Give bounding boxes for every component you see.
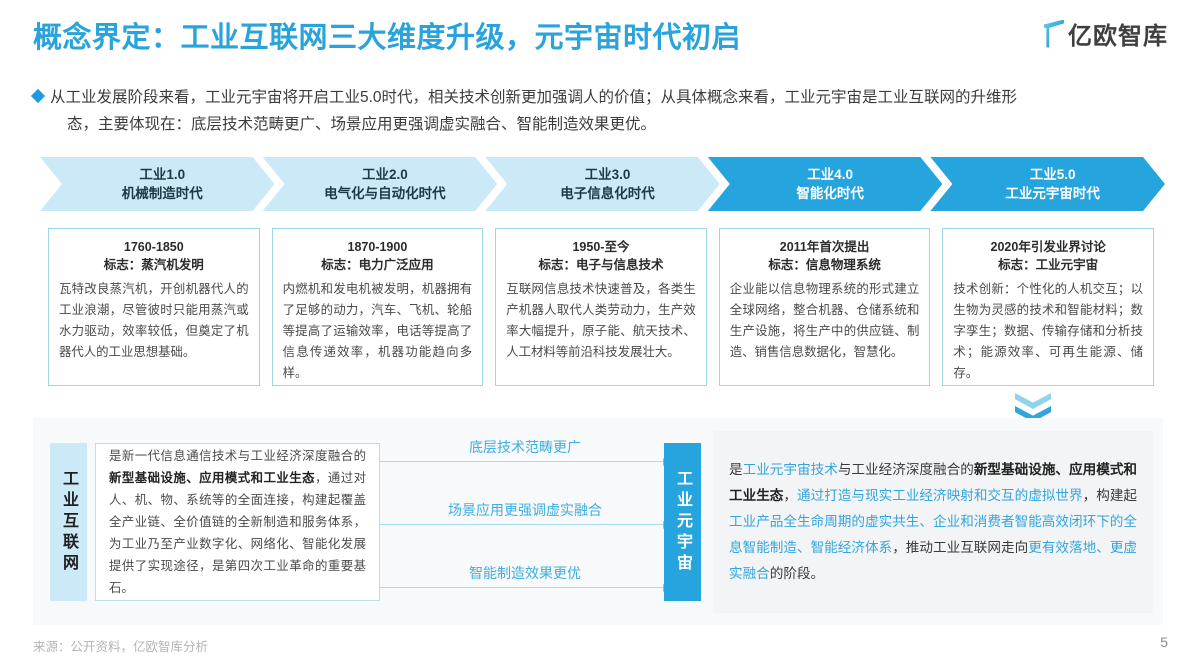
era-card: 1760-1850 标志：蒸汽机发明 瓦特改良蒸汽机，开创机器代人的工业浪潮，尽… [48, 228, 260, 386]
arrow-right-icon [380, 461, 670, 462]
rdef-seg-6-blue: 通过打造与现实工业经济映射和交互的虚拟世界 [797, 488, 1083, 503]
industrial-internet-label-text: 工业互联网 [50, 470, 87, 575]
timeline-step-1[interactable]: 工业1.0 机械制造时代 [40, 157, 275, 211]
industrial-internet-label: 工业互联网 [50, 443, 87, 601]
industrial-metaverse-label-text: 工业元宇宙 [664, 470, 701, 575]
arrow-right-icon [380, 524, 670, 525]
era-card: 1950-至今 标志：电子与信息技术 互联网信息技术快速普及，各类生产机器人取代… [495, 228, 707, 386]
timeline-step-title: 工业4.0 [807, 165, 853, 184]
chevron-down-icon [1015, 393, 1051, 409]
dimension-arrow-3-label: 智能制造效果更优 [380, 563, 670, 583]
era-card-subheading: 标志：蒸汽机发明 [59, 256, 249, 274]
rdef-seg-5: ， [783, 488, 797, 503]
era-card-body: 内燃机和发电机被发明，机器拥有了足够的动力，汽车、飞机、轮船等提高了运输效率，电… [283, 279, 473, 384]
page-number: 5 [1160, 634, 1168, 650]
timeline-step-2[interactable]: 工业2.0 电气化与自动化时代 [263, 157, 498, 211]
rdef-seg-7: ，构建起 [1083, 488, 1137, 503]
brand-wordmark: 亿欧智库 [1068, 16, 1168, 51]
era-card: 1870-1900 标志：电力广泛应用 内燃机和发电机被发明，机器拥有了足够的动… [272, 228, 484, 386]
era-card: 2011年首次提出 标志：信息物理系统 企业能以信息物理系统的形式建立全球网络，… [719, 228, 931, 386]
dimension-arrow-1-label: 底层技术范畴更广 [380, 437, 670, 457]
era-card: 2020年引发业界讨论 标志：工业元宇宙 技术创新：个性化的人机交互；以生物为灵… [942, 228, 1154, 386]
timeline-step-title: 工业3.0 [585, 165, 631, 184]
page-title: 概念界定：工业互联网三大维度升级，元宇宙时代初启 [33, 14, 741, 56]
source-note: 来源：公开资料，亿欧智库分析 [33, 636, 208, 655]
timeline-step-subtitle: 机械制造时代 [122, 184, 203, 203]
dimension-arrow-2-label: 场景应用更强调虚实融合 [380, 500, 670, 520]
era-card-heading: 2011年首次提出 [730, 238, 920, 256]
def-seg-2-bold: 新型基础设施、应用模式和工业生态 [109, 471, 315, 485]
timeline-step-3[interactable]: 工业3.0 电子信息化时代 [485, 157, 720, 211]
rdef-seg-1: 是 [729, 462, 743, 477]
lead-line-1: 从工业发展阶段来看，工业元宇宙将开启工业5.0时代，相关技术创新更加强调人的价值… [50, 89, 1017, 106]
era-card-subheading: 标志：电力广泛应用 [283, 256, 473, 274]
arrow-right-icon [380, 587, 670, 588]
era-card-subheading: 标志：电子与信息技术 [506, 256, 696, 274]
era-card-heading: 2020年引发业界讨论 [953, 238, 1143, 256]
era-card-heading: 1950-至今 [506, 238, 696, 256]
era-card-list: 1760-1850 标志：蒸汽机发明 瓦特改良蒸汽机，开创机器代人的工业浪潮，尽… [48, 228, 1154, 386]
era-card-body: 技术创新：个性化的人机交互；以生物为灵感的技术和智能材料；数字孪生；数据、传输存… [953, 279, 1143, 384]
era-card-body: 企业能以信息物理系统的形式建立全球网络，整合机器、仓储系统和生产设施，将生产中的… [730, 279, 920, 363]
timeline-step-title: 工业5.0 [1030, 165, 1076, 184]
timeline-step-5[interactable]: 工业5.0 工业元宇宙时代 [930, 157, 1165, 211]
industrial-internet-definition-box: 是新一代信息通信技术与工业经济深度融合的新型基础设施、应用模式和工业生态，通过对… [95, 443, 380, 601]
era-card-subheading: 标志：工业元宇宙 [953, 256, 1143, 274]
lead-paragraph: 从工业发展阶段来看，工业元宇宙将开启工业5.0时代，相关技术创新更加强调人的价值… [33, 84, 1163, 138]
industrial-metaverse-definition-text: 是工业元宇宙技术与工业经济深度融合的新型基础设施、应用模式和工业生态，通过打造与… [713, 457, 1153, 587]
industrial-internet-definition-text: 是新一代信息通信技术与工业经济深度融合的新型基础设施、应用模式和工业生态，通过对… [96, 445, 379, 599]
lead-line-2: 态，主要体现在：底层技术范畴更广、场景应用更强调虚实融合、智能制造效果更优。 [67, 111, 1017, 138]
rdef-seg-9: ，推动工业互联网走向 [892, 540, 1028, 555]
dimension-arrow-1: 底层技术范畴更广 [380, 437, 670, 462]
timeline-chevrons: 工业1.0 机械制造时代 工业2.0 电气化与自动化时代 工业3.0 电子信息化… [40, 157, 1153, 211]
timeline-step-subtitle: 电气化与自动化时代 [324, 184, 446, 203]
timeline-step-subtitle: 工业元宇宙时代 [1005, 184, 1100, 203]
era-card-heading: 1760-1850 [59, 238, 249, 256]
diamond-bullet-icon [31, 89, 45, 103]
era-card-body: 互联网信息技术快速普及，各类生产机器人取代人类劳动力，生产效率大幅提升，原子能、… [506, 279, 696, 363]
rdef-seg-2-blue: 工业元宇宙技术 [743, 462, 838, 477]
era-card-subheading: 标志：信息物理系统 [730, 256, 920, 274]
era-card-heading: 1870-1900 [283, 238, 473, 256]
brand-logo: 亿欧智库 [1044, 16, 1168, 51]
era-card-body: 瓦特改良蒸汽机，开创机器代人的工业浪潮，尽管彼时只能用蒸汽或水力驱动，效率较低，… [59, 279, 249, 363]
timeline-step-subtitle: 智能化时代 [796, 184, 864, 203]
industrial-metaverse-definition-box: 是工业元宇宙技术与工业经济深度融合的新型基础设施、应用模式和工业生态，通过打造与… [713, 431, 1153, 613]
dimension-arrow-2: 场景应用更强调虚实融合 [380, 500, 670, 525]
dimension-arrow-3: 智能制造效果更优 [380, 563, 670, 588]
rdef-seg-11: 的阶段。 [770, 566, 824, 581]
rdef-seg-3: 与工业经济深度融合的 [838, 462, 974, 477]
timeline-step-title: 工业2.0 [362, 165, 408, 184]
def-seg-3: ，通过对人、机、物、系统等的全面连接，构建起覆盖全产业链、全价值链的全新制造和服… [109, 471, 366, 595]
industrial-metaverse-label: 工业元宇宙 [664, 443, 701, 601]
timeline-step-subtitle: 电子信息化时代 [560, 184, 655, 203]
def-seg-1: 是新一代信息通信技术与工业经济深度融合的 [109, 449, 366, 463]
flag-icon [1044, 20, 1064, 48]
timeline-step-4[interactable]: 工业4.0 智能化时代 [708, 157, 943, 211]
timeline-step-title: 工业1.0 [139, 165, 185, 184]
